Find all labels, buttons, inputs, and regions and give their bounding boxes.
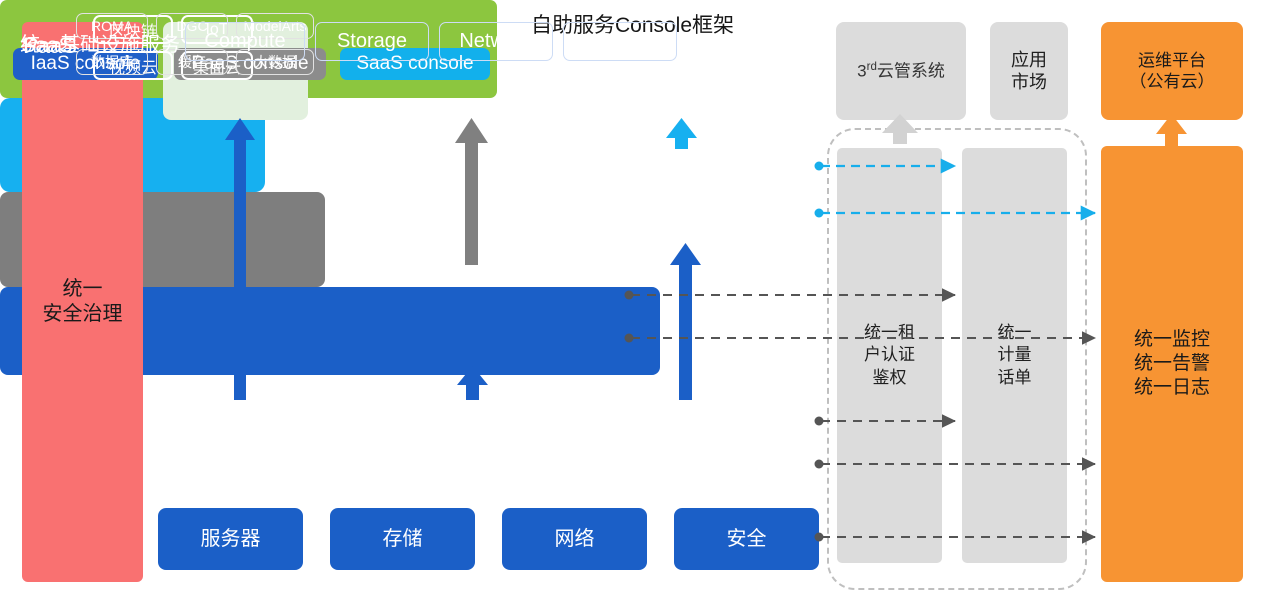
shared-service-auth-label: 统一租 户认证 鉴权 xyxy=(864,322,915,388)
iaas-service-cce[interactable]: CCE xyxy=(563,22,677,61)
iaas-layer-label: 统一基础设施服务 xyxy=(20,28,180,57)
ops-monitoring-column: 统一监控 统一告警 统一日志 xyxy=(1101,146,1243,582)
arrow-iaas-to-saas xyxy=(670,243,701,400)
security-governance-pillar: 统一 安全治理 xyxy=(22,22,143,582)
third-party-cloud-mgmt-label: 3rd云管系统 xyxy=(857,60,945,82)
third-party-cloud-mgmt-box: 3rd云管系统 xyxy=(836,22,966,120)
iaas-service-storage[interactable]: Storage xyxy=(315,22,429,61)
architecture-diagram: 统一租 户认证 鉴权 统一 计量 话单 统一 安全治理 API网关 自助服务Co… xyxy=(0,0,1265,605)
hardware-security-box: 安全 xyxy=(674,508,819,570)
hardware-network-box: 网络 xyxy=(502,508,647,570)
app-market-box: 应用 市场 xyxy=(990,22,1068,120)
shared-service-auth-column: 统一租 户认证 鉴权 xyxy=(837,148,942,563)
arrow-saas-to-saas-console xyxy=(666,118,697,149)
shared-service-billing-column: 统一 计量 话单 xyxy=(962,148,1067,563)
ops-monitoring-label: 统一监控 统一告警 统一日志 xyxy=(1134,328,1210,399)
security-governance-label: 统一 安全治理 xyxy=(43,277,123,327)
iaas-service-network[interactable]: Network xyxy=(439,22,553,61)
hardware-storage-box: 存储 xyxy=(330,508,475,570)
app-market-label: 应用 市场 xyxy=(1011,49,1047,94)
arrow-paas-to-console xyxy=(455,118,488,265)
shared-service-billing-label: 统一 计量 话单 xyxy=(998,322,1032,388)
ops-platform-label: 运维平台 （公有云） xyxy=(1130,50,1215,93)
hardware-server-box: 服务器 xyxy=(158,508,303,570)
ops-platform-box: 运维平台 （公有云） xyxy=(1101,22,1243,120)
iaas-service-compute[interactable]: Compute xyxy=(185,22,305,61)
